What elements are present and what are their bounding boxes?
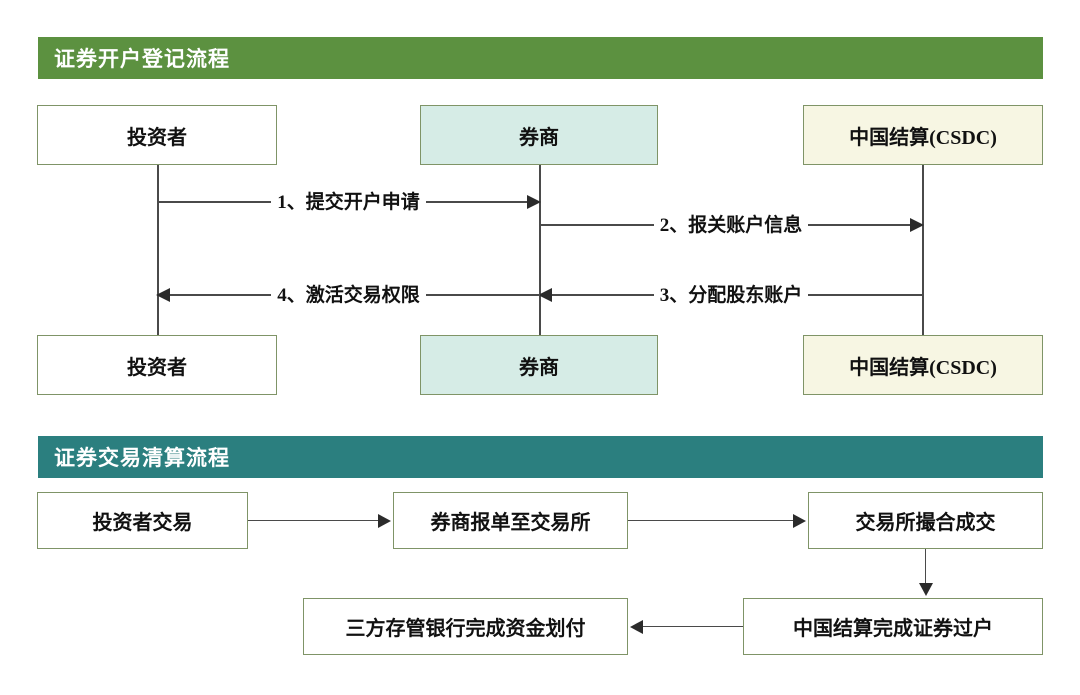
arrowhead-right-icon xyxy=(910,218,924,232)
message-label-3: 3、分配股东账户 xyxy=(654,286,809,305)
edge-broker-to-exchange xyxy=(628,520,795,522)
arrowhead-right-icon xyxy=(378,514,391,528)
message-label-2: 2、报关账户信息 xyxy=(654,216,809,235)
message-2-report-account-info: 2、报关账户信息 xyxy=(539,211,923,239)
diagram-canvas: 证券开户登记流程 投资者 券商 中国结算(CSDC) 1、提交开户申请 2、报关… xyxy=(0,0,1080,695)
flow-node-investor-trade: 投资者交易 xyxy=(37,492,248,549)
arrowhead-right-icon xyxy=(527,195,541,209)
arrowhead-left-icon xyxy=(156,288,170,302)
actor-box-broker-top: 券商 xyxy=(420,105,658,165)
message-label-4: 4、激活交易权限 xyxy=(271,286,426,305)
flow-node-exchange-match: 交易所撮合成交 xyxy=(808,492,1043,549)
lifeline-csdc xyxy=(922,165,924,335)
actor-box-investor-bottom: 投资者 xyxy=(37,335,277,395)
actor-box-csdc-bottom: 中国结算(CSDC) xyxy=(803,335,1043,395)
section-header-trade-clearing: 证券交易清算流程 xyxy=(38,436,1043,478)
message-4-activate-trading-permission: 4、激活交易权限 xyxy=(157,281,540,309)
actor-box-broker-bottom: 券商 xyxy=(420,335,658,395)
flow-node-csdc-securities-transfer: 中国结算完成证券过户 xyxy=(743,598,1043,655)
arrowhead-left-icon xyxy=(538,288,552,302)
arrowhead-right-icon xyxy=(793,514,806,528)
message-1-submit-application: 1、提交开户申请 xyxy=(157,188,540,216)
message-3-assign-shareholder-account: 3、分配股东账户 xyxy=(539,281,923,309)
edge-exchange-to-csdc xyxy=(925,549,927,585)
flow-node-custodian-bank-fund-transfer: 三方存管银行完成资金划付 xyxy=(303,598,628,655)
actor-box-investor-top: 投资者 xyxy=(37,105,277,165)
flow-node-broker-order-to-exchange: 券商报单至交易所 xyxy=(393,492,628,549)
message-label-1: 1、提交开户申请 xyxy=(271,193,426,212)
arrowhead-left-icon xyxy=(630,620,643,634)
edge-investor-to-broker xyxy=(248,520,380,522)
edge-csdc-to-bank xyxy=(643,626,743,628)
section-header-account-opening: 证券开户登记流程 xyxy=(38,37,1043,79)
arrowhead-down-icon xyxy=(919,583,933,596)
actor-box-csdc-top: 中国结算(CSDC) xyxy=(803,105,1043,165)
